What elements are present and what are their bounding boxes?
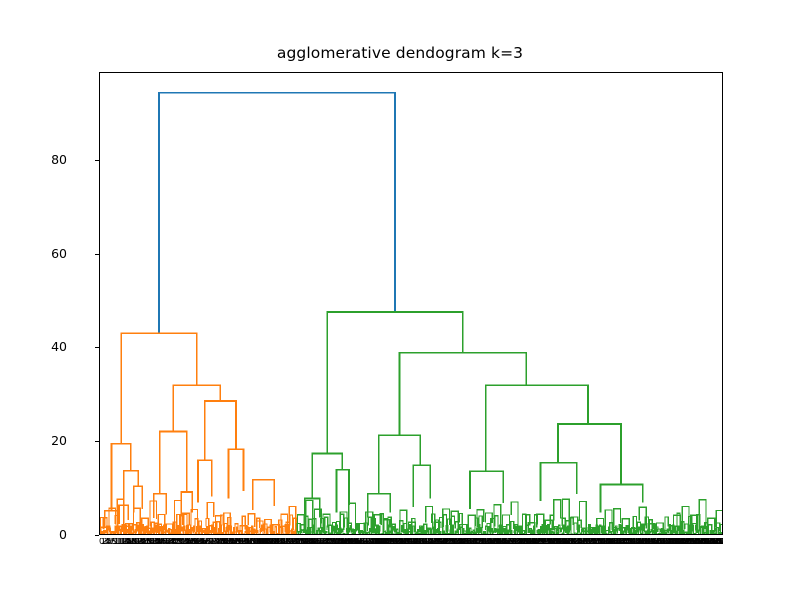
dendrogram-link	[341, 529, 342, 533]
dendrogram-link	[337, 470, 349, 513]
dendrogram-link	[123, 534, 124, 535]
dendrogram-link	[505, 534, 506, 535]
dendrogram-link	[398, 534, 399, 535]
dendrogram-svg	[100, 73, 723, 535]
dendrogram-link	[443, 515, 446, 528]
dendrogram-link	[539, 531, 540, 534]
dendrogram-link	[248, 514, 255, 527]
dendrogram-link	[502, 534, 503, 535]
dendrogram-link	[607, 534, 608, 535]
dendrogram-link	[486, 385, 588, 471]
dendrogram-link	[142, 534, 143, 535]
dendrogram-link	[124, 471, 138, 505]
dendrogram-link	[432, 534, 433, 535]
dendrogram-link	[205, 401, 236, 460]
dendrogram-link	[453, 534, 454, 535]
dendrogram-link	[445, 533, 446, 535]
dendrogram-link	[470, 471, 503, 508]
ytick-label-20: 20	[27, 433, 67, 448]
dendrogram-link	[483, 534, 486, 535]
dendrogram-link	[610, 532, 611, 535]
dendrogram-link	[400, 353, 527, 435]
dendrogram-link	[554, 500, 561, 521]
dendrogram-link	[417, 534, 424, 535]
dendrogram-link	[606, 530, 609, 533]
dendrogram-link	[480, 528, 481, 535]
dendrogram-link	[325, 532, 326, 535]
dendrogram-link	[250, 531, 253, 535]
dendrogram-link	[242, 534, 243, 535]
dendrogram-link	[112, 444, 131, 511]
dendrogram-link	[694, 534, 695, 535]
dendrogram-link	[657, 529, 660, 532]
dendrogram-link	[325, 517, 328, 528]
dendrogram-link	[243, 534, 244, 535]
dendrogram-link	[352, 534, 355, 535]
x-axis-leaf-labels: 0123456789101112131415161718192021222324…	[99, 538, 723, 556]
dendrogram-link	[713, 533, 716, 535]
dendrogram-link	[404, 534, 405, 535]
dendrogram-link	[159, 93, 395, 333]
dendrogram-link	[207, 502, 214, 519]
dendrogram-link	[541, 463, 577, 501]
dendrogram-link	[198, 460, 212, 502]
dendrogram-link	[173, 385, 220, 431]
dendrogram-link	[160, 432, 187, 494]
matplotlib-figure: agglomerative dendogram k=3 80 60 40 20 …	[0, 0, 800, 600]
dendrogram-link	[535, 534, 536, 535]
dendrogram-link	[558, 424, 621, 484]
ytick-mark-0	[95, 535, 99, 536]
page-title: agglomerative dendogram k=3	[0, 44, 800, 62]
dendrogram-link	[166, 532, 169, 535]
dendrogram-link	[283, 534, 284, 535]
dendrogram-link	[685, 524, 688, 532]
dendrogram-link	[495, 516, 498, 530]
dendrogram-link	[121, 333, 197, 444]
dendrogram-link	[229, 449, 244, 498]
dendrogram-link	[658, 534, 659, 535]
ytick-label-0: 0	[27, 527, 67, 542]
dendrogram-link	[368, 517, 371, 529]
dendrogram-link	[180, 534, 181, 535]
dendrogram-link	[312, 454, 342, 499]
dendrogram-link	[253, 480, 274, 510]
ytick-label-60: 60	[27, 246, 67, 261]
dendrogram-link	[258, 534, 259, 535]
dendrogram-link	[380, 534, 381, 535]
dendrogram-plot-area	[99, 72, 723, 535]
dendrogram-link	[414, 534, 415, 535]
dendrogram-link	[400, 534, 401, 535]
dendrogram-link	[340, 514, 343, 530]
dendrogram-link	[263, 534, 264, 535]
dendrogram-link	[210, 526, 213, 531]
dendrogram-link	[345, 534, 346, 535]
dendrogram-link	[413, 465, 430, 507]
dendrogram-link	[448, 534, 449, 535]
dendrogram-link	[278, 532, 279, 535]
dendrogram-link	[157, 535, 158, 536]
dendrogram-link	[170, 529, 173, 535]
ytick-label-80: 80	[27, 152, 67, 167]
dendrogram-link	[391, 534, 398, 535]
dendrogram-link	[386, 532, 387, 535]
dendrogram-link	[315, 534, 316, 535]
dendrogram-link	[600, 484, 642, 512]
dendrogram-link	[503, 529, 504, 534]
dendrogram-link	[368, 494, 390, 517]
dendrogram-link	[327, 312, 463, 454]
x-tick-label: 419	[722, 538, 724, 547]
dendrogram-link	[571, 534, 572, 535]
ytick-label-40: 40	[27, 339, 67, 354]
dendrogram-link	[459, 534, 460, 535]
dendrogram-link	[557, 533, 558, 535]
dendrogram-link	[109, 526, 110, 532]
